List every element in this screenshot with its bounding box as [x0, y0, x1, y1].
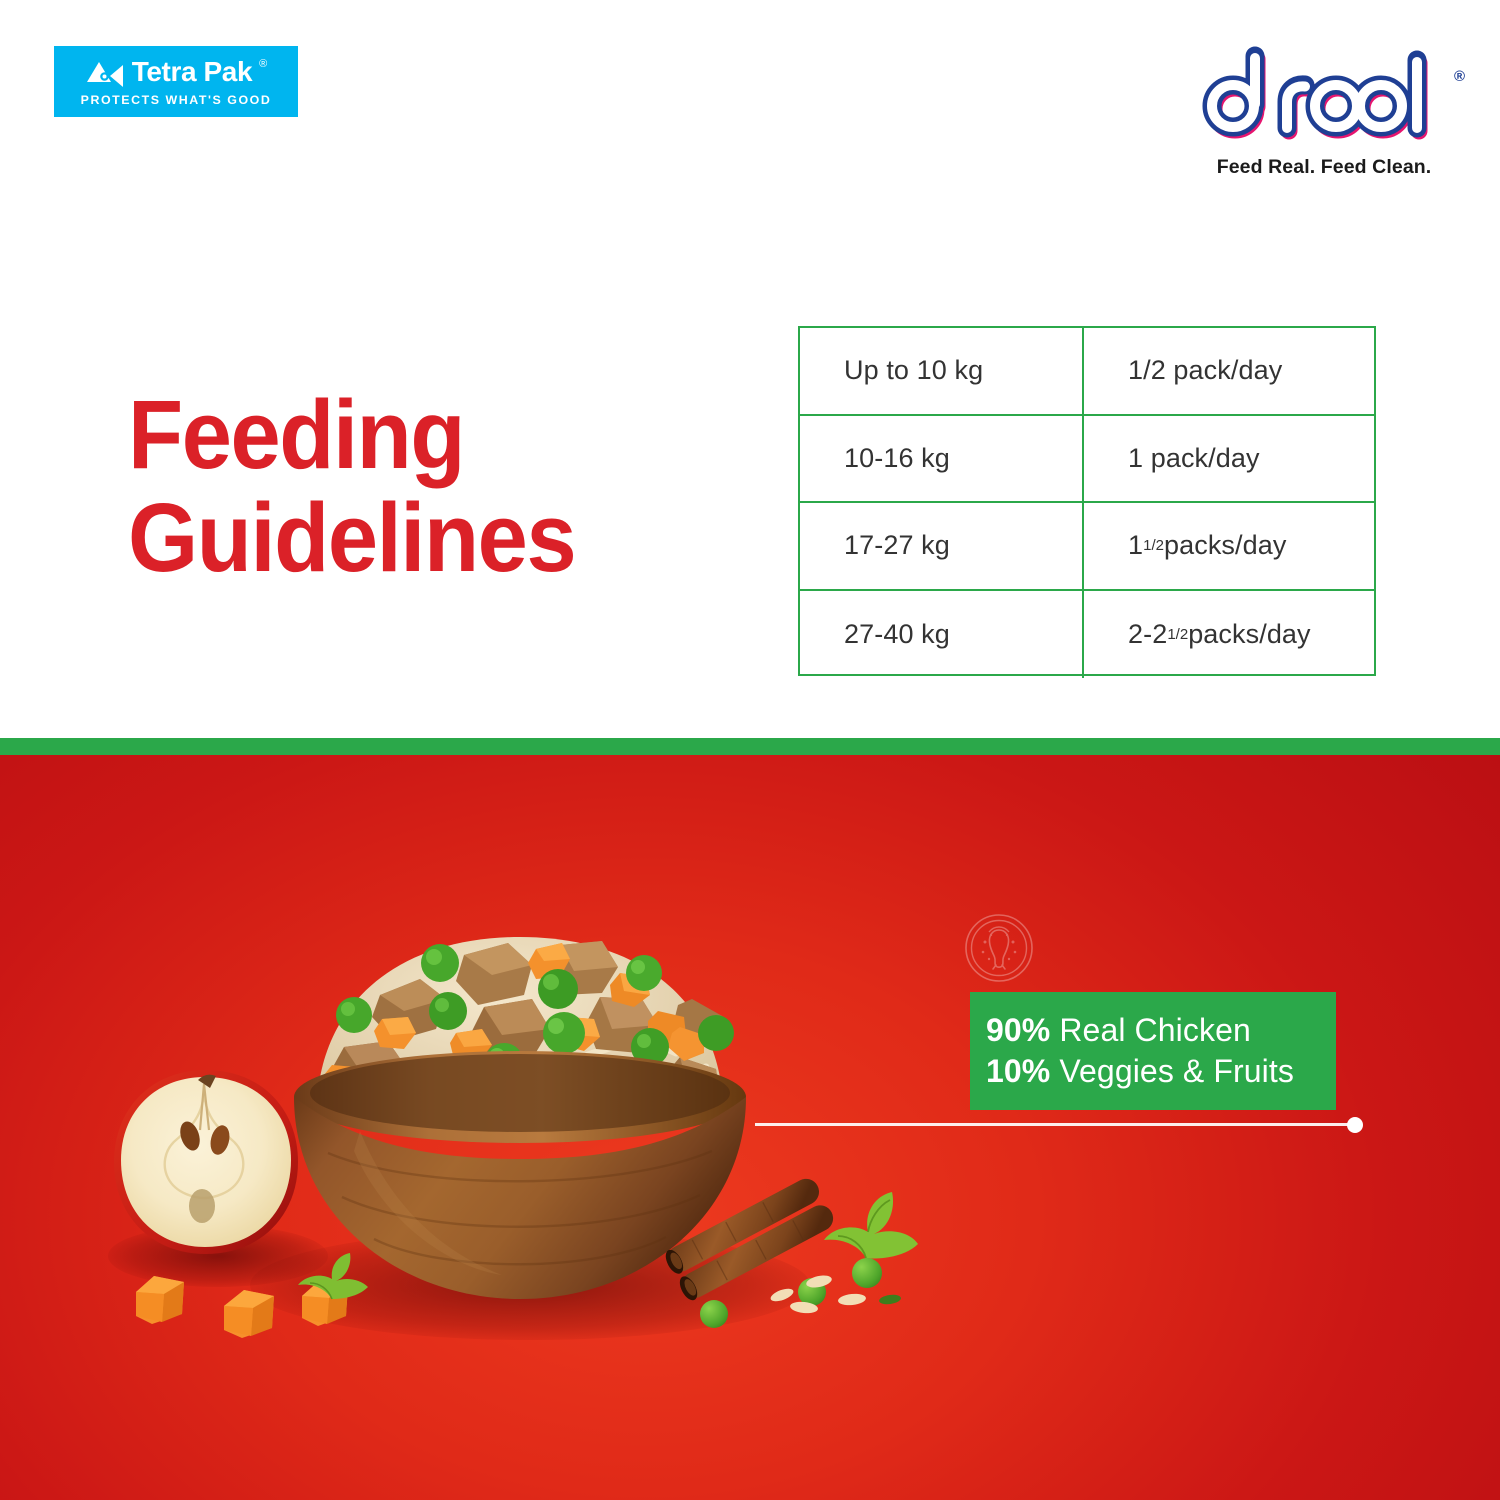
carrot-cube — [218, 1286, 280, 1344]
amount-text: 1 pack/day — [1128, 443, 1260, 474]
coriander-leaf — [812, 1186, 922, 1264]
drools-tagline: Feed Real. Feed Clean. — [1195, 156, 1453, 179]
claim-line-1: 90% Real Chicken — [986, 1010, 1336, 1051]
coriander-leaf — [288, 1245, 374, 1305]
amount-text: 1/2 pack/day — [1128, 355, 1282, 386]
page-title: Feeding Guidelines — [128, 383, 723, 589]
drools-logo: ® Feed Real. Feed Clean. — [1195, 44, 1463, 194]
table-cell-amount: 1 pack/day — [1084, 416, 1374, 502]
table-cell-weight: Up to 10 kg — [800, 328, 1084, 414]
green-divider-bar — [0, 738, 1500, 755]
table-cell-amount: 1/2 pack/day — [1084, 328, 1374, 414]
nutrition-claim-badge: 90% Real Chicken 10% Veggies & Fruits — [970, 992, 1336, 1110]
amount-prefix: 1 — [1128, 530, 1143, 561]
amount-suffix: packs/day — [1164, 530, 1286, 561]
green-pea — [852, 1258, 882, 1288]
claim-percent-2: 10% — [986, 1053, 1050, 1089]
drools-wordmark-icon — [1195, 44, 1453, 149]
table-cell-weight: 17-27 kg — [800, 503, 1084, 589]
amount-fraction: 1/2 — [1167, 626, 1188, 643]
claim-text-1: Real Chicken — [1050, 1012, 1251, 1048]
tetrapak-wordmark: Tetra Pak — [132, 58, 252, 86]
top-white-panel: Tetra Pak ® PROTECTS WHAT'S GOOD — [0, 0, 1500, 738]
table-row: 10-16 kg 1 pack/day — [800, 416, 1374, 504]
green-pea — [700, 1300, 728, 1328]
amount-fraction: 1/2 — [1143, 537, 1164, 554]
table-cell-amount: 11/2 packs/day — [1084, 503, 1374, 589]
chicken-drumstick-seal-icon — [963, 912, 1035, 984]
tetrapak-logo-row: Tetra Pak ® — [85, 58, 268, 90]
table-row: Up to 10 kg 1/2 pack/day — [800, 328, 1374, 416]
amount-suffix: packs/day — [1188, 619, 1310, 650]
page-title-line-1: Feeding — [128, 383, 723, 486]
tetrapak-mark-icon — [85, 62, 125, 90]
callout-connector-line — [755, 1123, 1355, 1126]
drools-registered-mark: ® — [1454, 68, 1465, 85]
tetrapak-registered-mark: ® — [259, 59, 267, 70]
carrot-cube — [130, 1272, 190, 1330]
halved-apple — [110, 1066, 302, 1262]
table-cell-amount: 2-21/2 packs/day — [1084, 591, 1374, 679]
claim-line-2: 10% Veggies & Fruits — [986, 1051, 1336, 1092]
callout-connector-dot — [1347, 1117, 1363, 1133]
tetrapak-logo: Tetra Pak ® PROTECTS WHAT'S GOOD — [54, 46, 298, 117]
claim-percent-1: 90% — [986, 1012, 1050, 1048]
table-cell-weight: 27-40 kg — [800, 591, 1084, 679]
table-row: 27-40 kg 2-21/2 packs/day — [800, 591, 1374, 679]
amount-prefix: 2-2 — [1128, 619, 1167, 650]
page-title-line-2: Guidelines — [128, 486, 723, 589]
claim-text-2: Veggies & Fruits — [1050, 1053, 1294, 1089]
feeding-guidelines-table: Up to 10 kg 1/2 pack/day 10-16 kg 1 pack… — [798, 326, 1376, 676]
table-row: 17-27 kg 11/2 packs/day — [800, 503, 1374, 591]
tetrapak-tagline: PROTECTS WHAT'S GOOD — [81, 94, 272, 107]
table-cell-weight: 10-16 kg — [800, 416, 1084, 502]
